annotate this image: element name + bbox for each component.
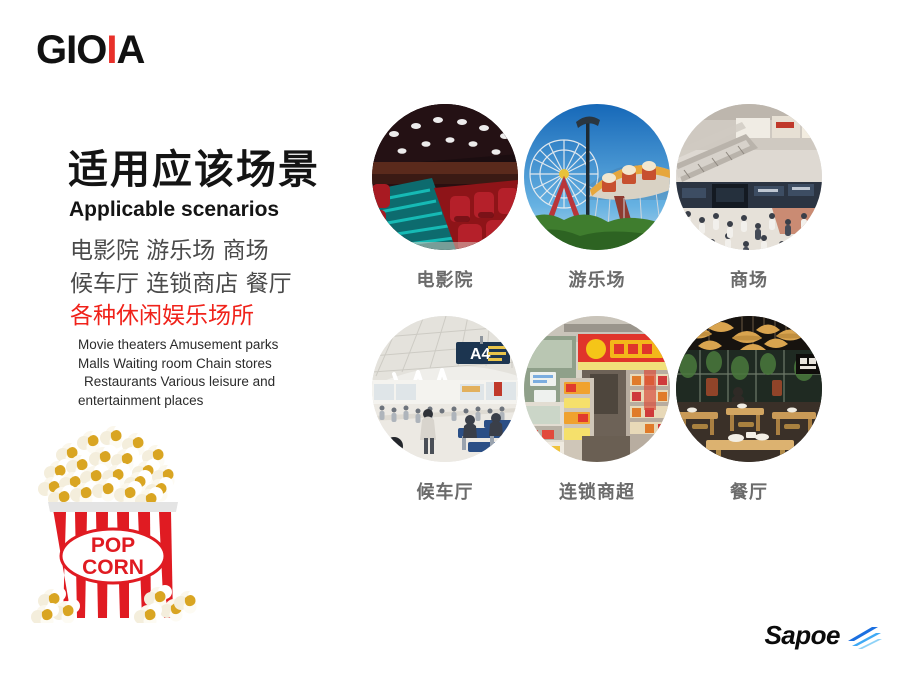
popcorn-label-corn: CORN [82, 556, 144, 579]
shopping-mall-photo [676, 104, 822, 250]
caption-cinema: 电影院 [372, 266, 518, 292]
caption-restaurant: 餐厅 [676, 478, 822, 504]
logo-part-1: GIO [36, 30, 106, 70]
popcorn-illustration: POP CORN [28, 418, 218, 623]
sapoe-mark-icon [838, 623, 882, 649]
logo-part-2: A [116, 30, 144, 70]
scenario-cell-restaurant[interactable]: 餐厅 [676, 316, 822, 504]
scenario-list-chinese: 电影院 游乐场 商场 候车厅 连锁商店 餐厅 各种休闲娱乐场所 [70, 235, 292, 333]
gioia-logo: GIOIA [36, 30, 144, 70]
scenario-cell-mall[interactable]: 商场 [676, 104, 822, 292]
scenario-cell-amusement-park[interactable]: 游乐场 [524, 104, 670, 292]
brand-name: Sapoe [764, 620, 840, 651]
gate-sign-label: A4 [470, 346, 491, 363]
slide-canvas: GIOIA 适用应该场景 Applicable scenarios 电影院 游乐… [0, 0, 900, 673]
scenario-en-line-1: Movie theaters Amusement parks [78, 336, 330, 355]
sapoe-brand-logo: Sapoe [764, 620, 882, 651]
scenario-en-line-2: Malls Waiting room Chain stores [78, 355, 330, 374]
caption-mall: 商场 [676, 266, 822, 292]
scenario-cell-cinema[interactable]: 电影院 [372, 104, 518, 292]
caption-amusement-park: 游乐场 [524, 266, 670, 292]
amusement-park-photo [524, 104, 670, 250]
headline-english: Applicable scenarios [69, 198, 279, 222]
scenario-list-english: Movie theaters Amusement parks Malls Wai… [78, 336, 330, 411]
scenario-cell-waiting-hall[interactable]: A4 [372, 316, 518, 504]
logo-part-red: I [106, 30, 116, 70]
popcorn-graphic: POP CORN [28, 418, 218, 623]
scenario-cell-chain-store[interactable]: 连锁商超 [524, 316, 670, 504]
headline-chinese: 适用应该场景 [68, 148, 320, 192]
scenario-en-line-4: entertainment places [78, 392, 330, 411]
scenario-image-grid: 电影院 [372, 104, 832, 524]
scenario-line-2: 候车厅 连锁商店 餐厅 [70, 268, 292, 301]
scenario-line-1: 电影院 游乐场 商场 [70, 235, 292, 268]
cinema-photo [372, 104, 518, 250]
restaurant-photo [676, 316, 822, 462]
scenario-line-3: 各种休闲娱乐场所 [70, 300, 292, 333]
caption-chain-store: 连锁商超 [524, 478, 670, 504]
chain-store-photo [524, 316, 670, 462]
scenario-en-line-3: Restaurants Various leisure and [78, 373, 330, 392]
waiting-hall-photo: A4 [372, 316, 518, 462]
popcorn-label-pop: POP [91, 534, 135, 557]
caption-waiting-hall: 候车厅 [372, 478, 518, 504]
